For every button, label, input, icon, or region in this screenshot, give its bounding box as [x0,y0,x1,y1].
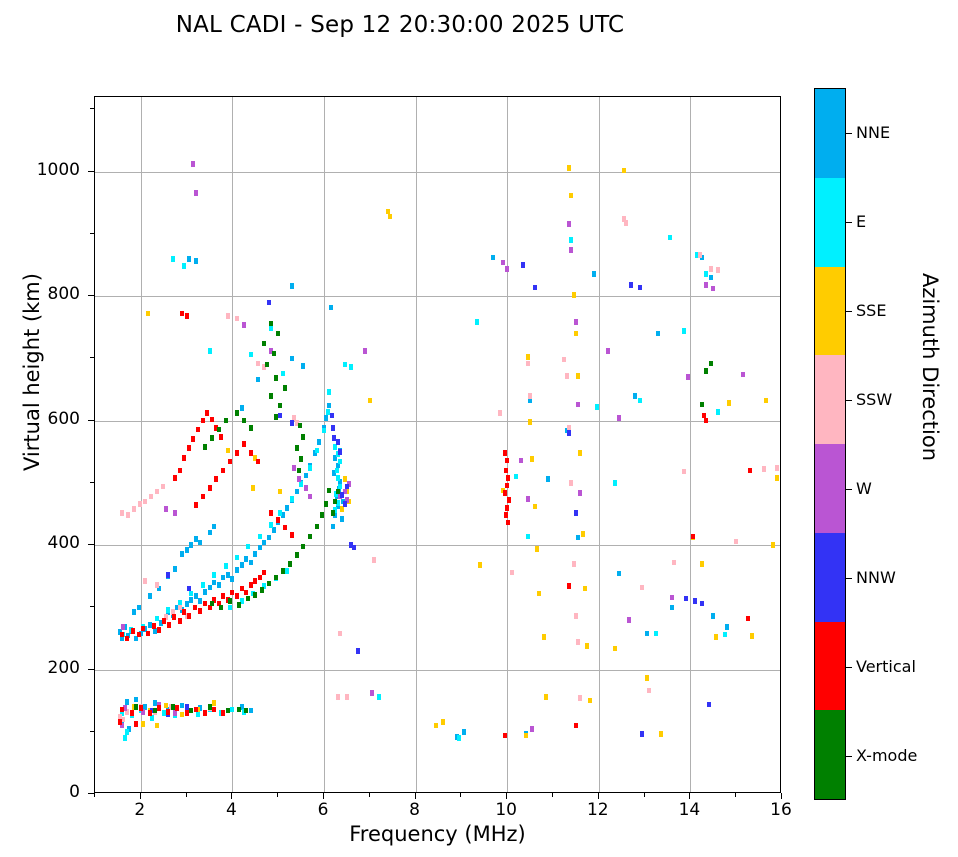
scatter-point [226,313,230,319]
scatter-point [125,699,129,705]
y-axis-tick [88,295,94,296]
scatter-point [226,448,230,454]
scatter-point [327,389,331,395]
scatter-point [166,572,170,578]
scatter-point [727,400,731,406]
colorbar-tick [846,222,852,223]
scatter-point [336,439,340,445]
scatter-point [506,475,510,481]
x-axis-tick-label: 2 [110,800,170,820]
scatter-point [228,459,232,465]
scatter-point [185,313,189,319]
scatter-point [153,708,157,714]
scatter-point [535,546,539,552]
scatter-point [506,520,510,526]
scatter-point [503,450,507,456]
scatter-point [567,165,571,171]
scatter-point [171,704,175,710]
scatter-point [707,702,711,708]
scatter-point [764,398,768,404]
scatter-point [210,417,214,423]
scatter-point [565,373,569,379]
scatter-point [212,707,216,713]
scatter-point [272,351,276,357]
scatter-point [638,398,642,404]
x-axis-tick [231,793,232,799]
scatter-point [256,459,260,465]
scatter-point [748,468,752,474]
scatter-point [647,688,651,694]
colorbar-segment-ssw[interactable] [815,355,845,444]
scatter-point [196,427,200,433]
scatter-point [700,402,704,408]
scatter-point [288,561,292,567]
scatter-point [336,489,340,495]
scatter-point [139,705,143,711]
scatter-point [576,373,580,379]
scatter-point [131,628,135,634]
scatter-point [217,427,221,433]
scatter-point [134,721,138,727]
scatter-point [528,419,532,425]
scatter-point [704,418,708,424]
scatter-point [372,557,376,563]
scatter-point [150,715,154,721]
scatter-point [157,627,161,633]
y-axis-minor-tick [90,233,94,234]
scatter-point [315,524,319,530]
scatter-point [258,545,262,551]
scatter-point [242,441,246,447]
scatter-point [208,530,212,536]
scatter-point [205,410,209,416]
y-axis-minor-tick [90,731,94,732]
scatter-point [134,704,138,710]
scatter-point [258,575,262,581]
scatter-point [237,707,241,713]
scatter-point [155,723,159,729]
scatter-point [120,632,124,638]
scatter-point [576,402,580,408]
scatter-point [504,468,508,474]
scatter-point [457,735,461,741]
x-axis-tick-label: 8 [385,800,445,820]
scatter-point [162,618,166,624]
scatter-point [167,622,171,628]
x-axis-minor-tick [277,793,278,797]
scatter-point [546,476,550,482]
scatter-point [684,596,688,602]
scatter-point [240,562,244,568]
scatter-point [269,321,273,327]
scatter-point [526,354,530,360]
scatter-point [217,582,221,588]
scatter-point [301,434,305,440]
colorbar-tick [846,667,852,668]
scatter-point [693,598,697,604]
scatter-point [182,263,186,269]
scatter-point [338,449,342,455]
scatter-point [258,534,262,540]
scatter-point [256,377,260,383]
scatter-point [146,631,150,637]
scatter-point [501,260,505,266]
scatter-point [507,497,511,503]
scatter-point [173,475,177,481]
scatter-point [182,609,186,615]
y-axis-minor-tick [90,108,94,109]
scatter-point [162,710,166,716]
x-axis-tick-label: 6 [293,800,353,820]
scatter-point [164,703,168,709]
scatter-point [504,512,508,518]
scatter-point [290,283,294,289]
colorbar-tick [846,400,852,401]
scatter-point [278,489,282,495]
scatter-point [622,168,626,174]
scatter-point [235,450,239,456]
scatter-point [189,591,193,597]
scatter-point [521,262,525,268]
scatter-point [578,450,582,456]
scatter-point [585,643,589,649]
scatter-point [578,490,582,496]
scatter-point [256,361,260,367]
scatter-point [505,505,509,511]
scatter-point [530,456,534,462]
x-axis-tick [140,793,141,799]
scatter-point [290,356,294,362]
y-axis-tick-label: 400 [10,533,80,553]
scatter-point [185,710,189,716]
scatter-point [686,374,690,380]
scatter-point [562,357,566,363]
scatter-point [180,703,184,709]
scatter-point [240,586,244,592]
scatter-point [343,501,347,507]
scatter-point [155,616,159,622]
scatter-point [581,531,585,537]
scatter-point [633,393,637,399]
y-axis-minor-tick [90,482,94,483]
scatter-point [709,361,713,367]
scatter-point [526,534,530,540]
y-axis-tick [88,793,94,794]
scatter-point [629,282,633,288]
scatter-point [363,348,367,354]
colorbar-segment-nnw[interactable] [815,533,845,622]
scatter-point [340,516,344,522]
scatter-point [709,275,713,281]
scatter-points-layer [95,97,780,792]
colorbar-tick [846,133,852,134]
colorbar-segment-nne[interactable] [815,89,845,178]
scatter-point [333,444,337,450]
scatter-point [368,398,372,404]
colorbar-label-nne: NNE [856,123,890,142]
scatter-point [510,570,514,576]
x-axis-minor-tick [735,793,736,797]
scatter-point [606,348,610,354]
scatter-point [343,476,347,482]
y-axis-tick-label: 0 [10,782,80,802]
scatter-point [330,413,334,419]
scatter-point [434,723,438,729]
scatter-point [640,585,644,591]
scatter-point [583,586,587,592]
scatter-point [613,480,617,486]
scatter-point [491,255,495,261]
scatter-point [297,476,301,482]
scatter-point [345,484,349,490]
scatter-point [335,468,339,474]
scatter-point [203,601,207,607]
scatter-point [698,252,702,258]
scatter-point [226,572,230,578]
x-axis-tick [781,793,782,799]
y-axis-minor-tick [90,357,94,358]
scatter-point [194,190,198,196]
scatter-point [638,285,642,291]
scatter-point [187,256,191,262]
scatter-point [125,636,129,642]
scatter-point [267,300,271,306]
x-axis-minor-tick [460,793,461,797]
scatter-point [569,480,573,486]
scatter-point [208,485,212,491]
scatter-point [253,551,257,557]
scatter-point [377,694,381,700]
scatter-point [505,266,509,272]
scatter-point [123,735,127,741]
scatter-point [478,562,482,568]
scatter-point [505,458,509,464]
scatter-point [272,527,276,533]
colorbar-tick [846,578,852,579]
x-axis-tick-label: 12 [568,800,628,820]
scatter-point [249,560,253,566]
scatter-point [530,726,534,732]
scatter-point [191,436,195,442]
scatter-point [574,319,578,325]
scatter-point [723,632,727,638]
scatter-point [734,539,738,545]
scatter-point [704,368,708,374]
scatter-point [249,352,253,358]
scatter-point [592,271,596,277]
x-axis-tick-label: 4 [201,800,261,820]
scatter-point [295,552,299,558]
scatter-point [242,322,246,328]
scatter-point [203,710,207,716]
scatter-point [155,489,159,495]
x-axis-tick [598,793,599,799]
y-axis-tick [88,171,94,172]
scatter-point [574,331,578,337]
scatter-point [269,326,273,332]
scatter-point [242,418,246,424]
scatter-point [299,456,303,462]
scatter-point [503,490,507,496]
scatter-point [274,375,278,381]
x-axis-minor-tick [186,793,187,797]
colorbar-segment-w[interactable] [815,444,845,533]
scatter-point [138,501,142,507]
scatter-point [120,510,124,516]
scatter-point [235,555,239,561]
scatter-point [682,328,686,334]
x-axis-minor-tick [644,793,645,797]
scatter-point [132,506,136,512]
scatter-point [276,517,280,523]
scatter-point [155,582,159,588]
scatter-point [290,532,294,538]
y-axis-tick [88,544,94,545]
scatter-point [343,362,347,368]
scatter-point [260,587,264,593]
scatter-point [276,331,280,337]
scatter-point [725,624,729,630]
x-axis-minor-tick [94,793,95,797]
scatter-point [295,489,299,495]
scatter-point [528,393,532,399]
scatter-point [267,535,271,541]
scatter-point [588,698,592,704]
scatter-point [514,474,518,480]
scatter-point [161,484,165,490]
scatter-point [149,494,153,500]
scatter-point [235,567,239,573]
scatter-point [152,623,156,629]
scatter-point [191,161,195,167]
scatter-point [153,628,157,634]
scatter-point [338,459,342,465]
scatter-point [574,510,578,516]
scatter-point [178,605,182,611]
scatter-point [164,506,168,512]
scatter-point [235,410,239,416]
scatter-point [775,465,779,471]
scatter-point [221,575,225,581]
scatter-point [121,624,125,630]
scatter-point [340,506,344,512]
scatter-point [203,589,207,595]
scatter-point [567,430,571,436]
scatter-point [166,607,170,613]
scatter-point [180,551,184,557]
scatter-point [315,448,319,454]
scatter-point [297,468,301,474]
scatter-point [137,605,141,611]
scatter-point [274,575,278,581]
scatter-point [244,556,248,562]
scatter-point [210,601,214,607]
colorbar-segment-sse[interactable] [815,267,845,356]
colorbar-segment-vertical[interactable] [815,622,845,711]
scatter-point [180,311,184,317]
scatter-point [388,214,392,220]
x-axis-tick [323,793,324,799]
scatter-point [196,712,200,718]
scatter-point [212,524,216,530]
scatter-point [668,235,672,241]
scatter-point [519,458,523,464]
scatter-point [230,707,234,713]
scatter-point [336,694,340,700]
scatter-point [208,704,212,710]
scatter-point [143,499,147,505]
colorbar-segment-e[interactable] [815,178,845,267]
scatter-point [441,719,445,725]
scatter-point [173,710,177,716]
scatter-point [212,580,216,586]
scatter-point [251,485,255,491]
scatter-point [230,590,234,596]
scatter-point [187,613,191,619]
scatter-point [771,542,775,548]
x-axis-tick [415,793,416,799]
scatter-point [249,450,253,456]
scatter-point [526,496,530,502]
scatter-point [185,704,189,710]
scatter-point [542,634,546,640]
scatter-point [262,570,266,576]
scatter-point [141,721,145,727]
scatter-point [230,576,234,582]
scatter-point [574,723,578,729]
scatter-point [178,468,182,474]
scatter-point [304,485,308,491]
scatter-point [574,613,578,619]
scatter-point [194,707,198,713]
scatter-point [691,534,695,540]
scatter-point [244,590,248,596]
scatter-point [711,613,715,619]
scatter-point [214,476,218,482]
plot-area[interactable] [94,96,781,793]
scatter-point [281,568,285,574]
scatter-point [331,425,335,431]
scatter-point [645,631,649,637]
scatter-point [130,710,134,716]
scatter-point [716,267,720,273]
colorbar-tick [846,311,852,312]
scatter-point [370,690,374,696]
scatter-point [682,469,686,475]
scatter-point [224,563,228,569]
scatter-point [267,581,271,587]
scatter-point [194,536,198,542]
scatter-point [659,731,663,737]
scatter-point [775,475,779,481]
y-axis-tick [88,669,94,670]
scatter-point [298,423,302,429]
scatter-point [278,403,282,409]
colorbar-segment-x-mode[interactable] [815,710,845,799]
scatter-point [198,540,202,546]
scatter-point [249,708,253,714]
scatter-point [569,237,573,243]
scatter-point [299,481,303,487]
scatter-point [173,510,177,516]
scatter-point [324,501,328,507]
scatter-point [613,646,617,652]
scatter-point [235,316,239,322]
colorbar[interactable] [814,88,846,800]
scatter-point [462,729,466,735]
scatter-point [338,631,342,637]
scatter-point [700,601,704,607]
